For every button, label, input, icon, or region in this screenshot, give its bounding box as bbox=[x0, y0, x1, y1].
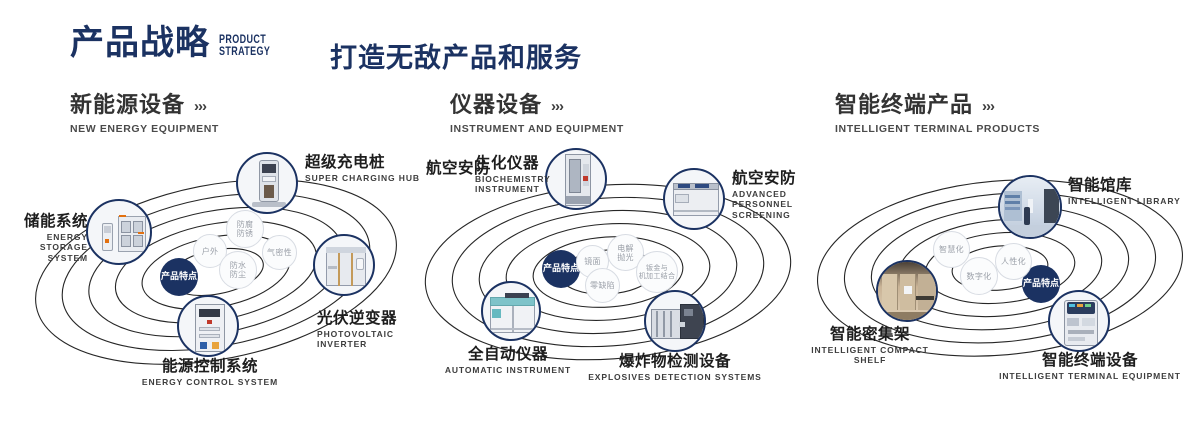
cluster-instrument-and-equipment: 产品特点 镜面 电解 抛光 钣金与 机加工结合 零缺陷 航空安防 生化仪器 BI… bbox=[408, 150, 808, 412]
core-bubble: 产品特点 bbox=[160, 258, 198, 296]
smart-library-icon bbox=[1000, 177, 1060, 237]
cluster-new-energy-equipment: 产品特点 户外 防腐 防锈 防水 防尘 气密性 储能系统 ENERGY STOR… bbox=[20, 150, 420, 412]
core-label: 产品特点 bbox=[161, 272, 197, 282]
section-heading-new-energy: 新能源设备 ››› NEW ENERGY EQUIPMENT bbox=[70, 95, 219, 135]
feature-bubble-2: 防水 防尘 bbox=[219, 251, 257, 289]
node-energy-control-system[interactable] bbox=[177, 295, 239, 357]
node-label-energy-storage-system: 储能系统 ENERGY STORAGE SYSTEM bbox=[6, 213, 88, 264]
biochem-column-icon bbox=[547, 150, 605, 208]
core-label: 产品特点 bbox=[543, 264, 579, 274]
page-title: 产品战略 PRODUCT STRATEGY bbox=[70, 26, 285, 60]
section-heading-instrument: 仪器设备 ››› INSTRUMENT AND EQUIPMENT bbox=[450, 95, 624, 135]
explosive-detector-icon bbox=[646, 292, 704, 350]
node-advanced-personnel-screening[interactable] bbox=[663, 168, 725, 230]
section-title-cn: 仪器设备 bbox=[450, 95, 542, 117]
chevron-right-icon: ››› bbox=[194, 99, 206, 114]
section-title-en: INSTRUMENT AND EQUIPMENT bbox=[450, 123, 624, 135]
energy-storage-cabinet-icon bbox=[88, 201, 150, 263]
node-intelligent-terminal-equipment[interactable] bbox=[1048, 290, 1110, 352]
control-cabinet-icon bbox=[179, 297, 237, 355]
node-label-intelligent-compact-shelf: 智能密集架 INTELLIGENT COMPACT SHELF bbox=[760, 326, 980, 366]
core-bubble: 产品特点 bbox=[542, 250, 580, 288]
chevron-right-icon: ››› bbox=[551, 99, 563, 114]
core-label: 产品特点 bbox=[1023, 279, 1059, 289]
section-title-en: NEW ENERGY EQUIPMENT bbox=[70, 123, 219, 135]
node-super-charging-hub[interactable] bbox=[236, 152, 298, 214]
feature-bubble-3: 气密性 bbox=[262, 235, 297, 270]
node-explosives-detection-systems[interactable] bbox=[644, 290, 706, 352]
infographic-page: 产品战略 PRODUCT STRATEGY 打造无敌产品和服务 新能源设备 ››… bbox=[0, 0, 1200, 422]
node-photovoltaic-inverter[interactable] bbox=[313, 234, 375, 296]
feature-bubble-2: 钣金与 机加工结合 bbox=[636, 251, 678, 293]
charging-pile-icon bbox=[238, 154, 296, 212]
section-heading-intelligent-terminal: 智能终端产品 ››› INTELLIGENT TERMINAL PRODUCTS bbox=[835, 95, 1040, 135]
feature-bubble-3: 零缺陷 bbox=[585, 268, 620, 303]
terminal-kiosk-icon bbox=[1050, 292, 1108, 350]
node-label-automatic-instrument: 全自动仪器 AUTOMATIC INSTRUMENT bbox=[398, 346, 618, 375]
node-label-intelligent-terminal-equipment: 智能终端设备 INTELLIGENT TERMINAL EQUIPMENT bbox=[970, 352, 1200, 381]
feature-bubble-1: 数字化 bbox=[960, 257, 998, 295]
section-title-en: INTELLIGENT TERMINAL PRODUCTS bbox=[835, 123, 1040, 135]
node-biochemistry-instrument[interactable] bbox=[545, 148, 607, 210]
chevron-right-icon: ››› bbox=[982, 99, 994, 114]
section-title-cn: 新能源设备 bbox=[70, 95, 185, 117]
node-label-photovoltaic-inverter: 光伏逆变器 PHOTOVOLTAIC INVERTER bbox=[317, 310, 420, 350]
node-automatic-instrument[interactable] bbox=[481, 281, 541, 341]
node-energy-storage-system[interactable] bbox=[86, 199, 152, 265]
pv-inverter-icon bbox=[315, 236, 373, 294]
feature-bubble-1: 防腐 防锈 bbox=[226, 210, 264, 248]
node-label-energy-control-system: 能源控制系统 ENERGY CONTROL SYSTEM bbox=[100, 358, 320, 387]
compact-shelf-icon bbox=[878, 262, 936, 320]
automatic-analyzer-icon bbox=[483, 283, 539, 339]
cluster-intelligent-terminal-products: 产品特点 智慧化 数字化 人性化 智能馆库 INTELLIGENT LIBRAR… bbox=[800, 150, 1200, 412]
title-cn: 产品战略 bbox=[70, 26, 210, 60]
node-label-intelligent-library: 智能馆库 INTELLIGENT LIBRARY bbox=[1068, 177, 1181, 206]
screening-machine-icon bbox=[665, 170, 723, 228]
node-label-biochemistry-instrument: 生化仪器 BIOCHEMISTRY INSTRUMENT bbox=[475, 155, 551, 195]
section-title-cn: 智能终端产品 bbox=[835, 95, 973, 117]
title-en: PRODUCT STRATEGY bbox=[219, 35, 270, 58]
node-intelligent-compact-shelf[interactable] bbox=[876, 260, 938, 322]
node-label-advanced-personnel-screening: 航空安防 ADVANCED PERSONNEL SCREENING bbox=[732, 170, 808, 221]
node-intelligent-library[interactable] bbox=[998, 175, 1062, 239]
feature-bubble-2: 人性化 bbox=[995, 243, 1032, 280]
page-subtitle: 打造无敌产品和服务 bbox=[330, 36, 582, 75]
